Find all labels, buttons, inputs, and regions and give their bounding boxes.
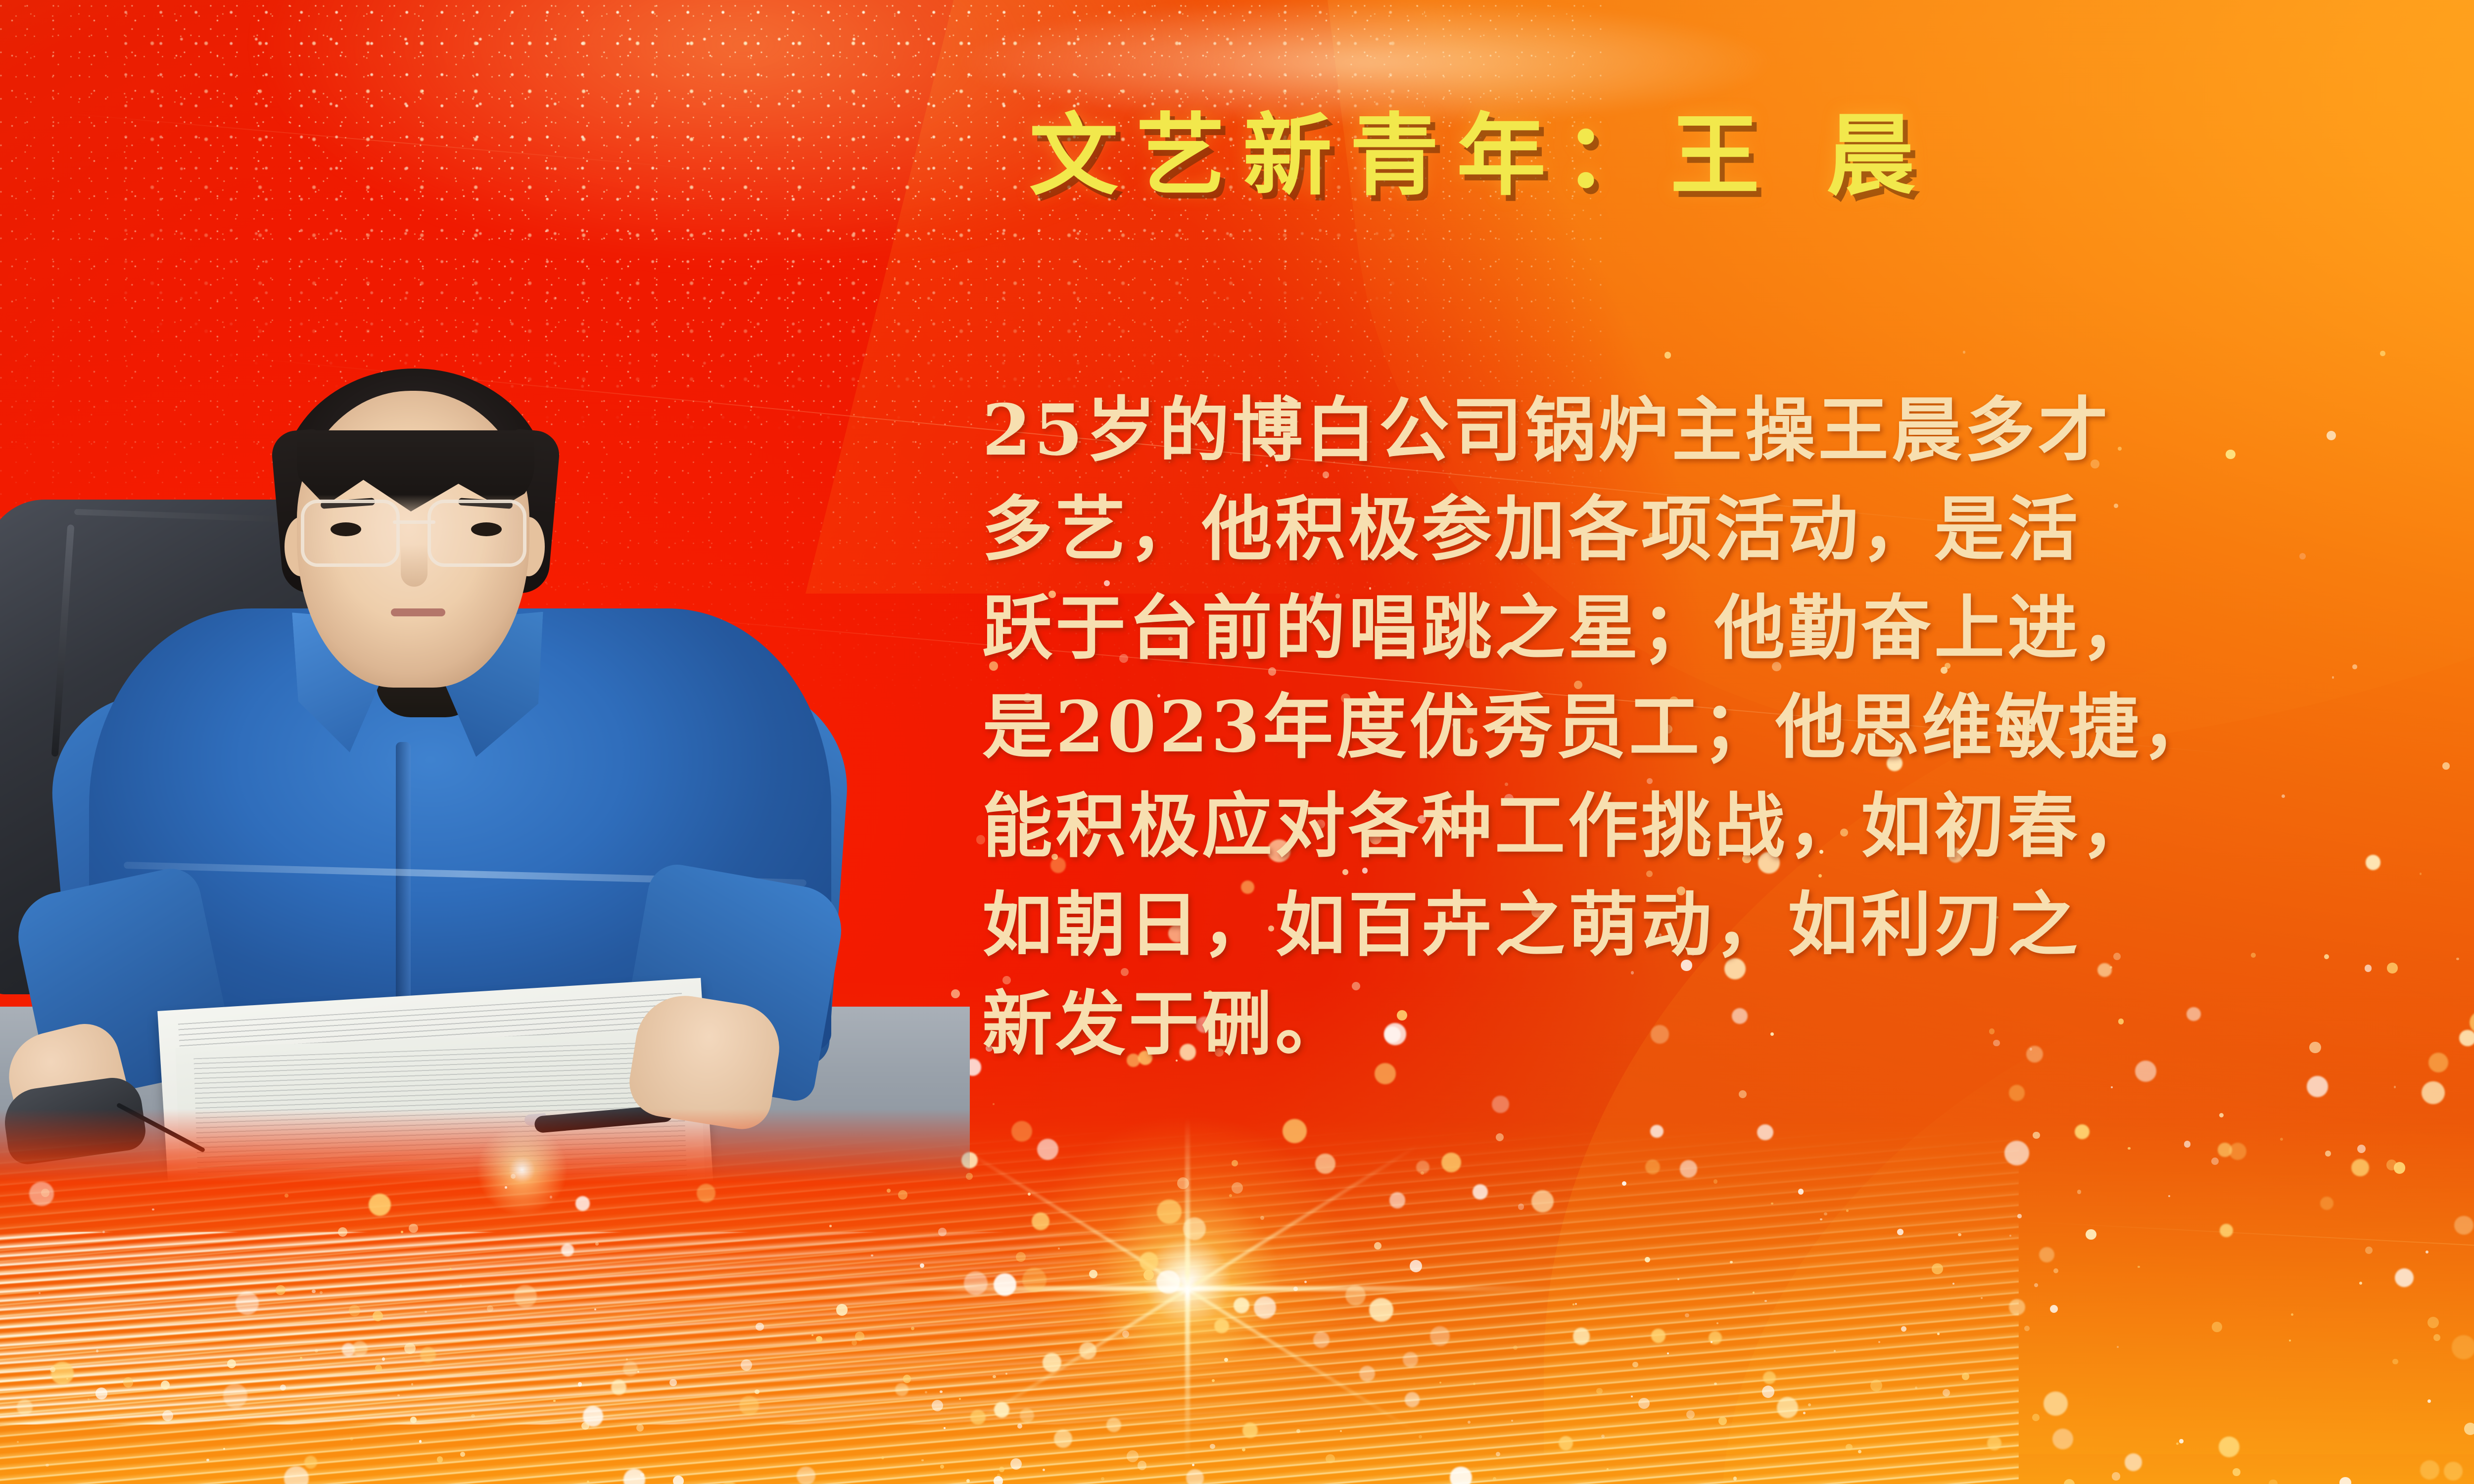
nose: [401, 544, 428, 587]
subject-photo: [0, 267, 970, 1182]
poster-canvas: 文艺新青年：王 晨 25岁的博白公司锅炉主操王晨多才 多艺，他积极参加各项活动，…: [0, 0, 2474, 1484]
body-line: 25岁的博白公司锅炉主操王晨多才: [982, 381, 2474, 480]
uniform-placket: [396, 742, 411, 1019]
body-line: 如朝日，如百卉之萌动，如利刃之: [982, 876, 2474, 974]
eye-right: [471, 522, 502, 536]
page-title: 文艺新青年：王 晨: [1029, 111, 2474, 200]
body-line: 新发于硎。: [982, 974, 2474, 1073]
bottom-bright-streaks: [0, 1232, 1484, 1425]
mouth: [391, 608, 445, 616]
body-line: 是2023年度优秀员工；他思维敏捷，: [982, 678, 2474, 777]
body-line: 多艺，他积极参加各项活动，是活: [982, 480, 2474, 579]
eye-left: [331, 522, 361, 536]
body-line: 跃于台前的唱跳之星；他勤奋上进，: [982, 579, 2474, 678]
body-paragraph: 25岁的博白公司锅炉主操王晨多才 多艺，他积极参加各项活动，是活 跃于台前的唱跳…: [982, 381, 2474, 1073]
body-line: 能积极应对各种工作挑战，如初春，: [982, 777, 2474, 876]
